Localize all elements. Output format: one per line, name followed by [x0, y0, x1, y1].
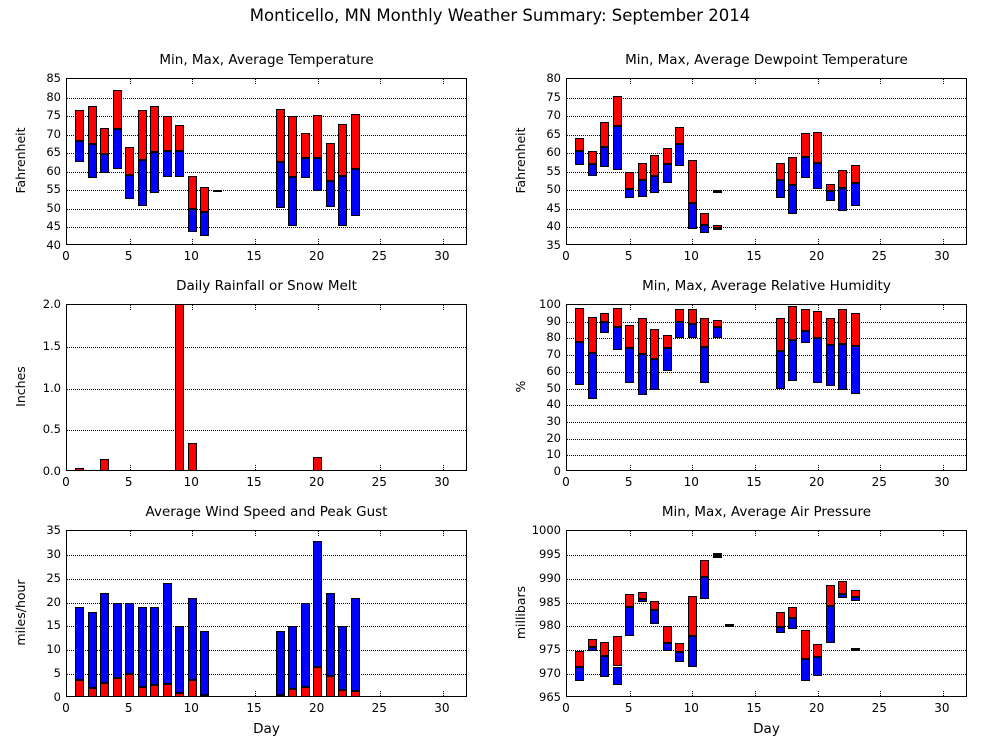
xtick-stub-bottom [818, 465, 819, 470]
bar-flat-marker [725, 624, 734, 627]
panel-temperature: Min, Max, Average Temperature40455055606… [6, 52, 469, 289]
xtick-stub-top [443, 79, 444, 84]
xtick-stub-bottom [943, 691, 944, 696]
xtick-stub-bottom [630, 239, 631, 244]
xtick-stub-top [943, 79, 944, 84]
xtick-stub-top [630, 305, 631, 310]
xtick-stub-bottom [818, 239, 819, 244]
bar-max-segment [788, 306, 797, 340]
xtick-stub-bottom [818, 691, 819, 696]
xtick-label: 20 [809, 249, 824, 263]
plot-area-rainfall [66, 304, 467, 471]
panel-title-temperature: Min, Max, Average Temperature [66, 52, 467, 68]
gridline-y [567, 227, 966, 228]
xtick-label: 25 [372, 701, 387, 715]
plot-area-temperature [66, 78, 467, 245]
gridline-y [567, 650, 966, 651]
xtick-stub-top [130, 531, 131, 536]
gridline-y [567, 116, 966, 117]
panel-title-rainfall: Daily Rainfall or Snow Melt [66, 278, 467, 294]
bar-min-segment [650, 176, 659, 193]
bar-min-segment [313, 158, 322, 191]
axis-label-y: Inches [13, 303, 28, 470]
bar-max-segment [138, 110, 147, 159]
bar-max-segment [163, 116, 172, 151]
bar-max-segment [813, 644, 822, 658]
bar-min-segment [688, 324, 697, 338]
xtick-stub-bottom [880, 691, 881, 696]
xtick-stub-bottom [380, 465, 381, 470]
xtick-stub-bottom [880, 465, 881, 470]
xtick-stub-top [755, 79, 756, 84]
bar-max-segment [675, 643, 684, 652]
bar-min-segment [600, 322, 609, 334]
xtick-label: 25 [872, 701, 887, 715]
xtick-label: 15 [746, 701, 761, 715]
xtick-label: 0 [62, 701, 70, 715]
xtick-stub-bottom [443, 239, 444, 244]
bar-max-segment [688, 309, 697, 324]
bar-max-segment [663, 148, 672, 163]
xtick-stub-top [192, 531, 193, 536]
xtick-stub-bottom [318, 239, 319, 244]
bar-max-segment [625, 325, 634, 348]
xtick-stub-top [630, 531, 631, 536]
gridline-y [67, 209, 466, 210]
xtick-label: 10 [184, 475, 199, 489]
bar-wind-average [113, 678, 122, 697]
bar-max-segment [813, 311, 822, 339]
bar-max-segment [575, 138, 584, 151]
bar-max-segment [588, 639, 597, 648]
bar-min-segment [638, 354, 647, 395]
bar-min-segment [650, 610, 659, 624]
xtick-stub-bottom [192, 239, 193, 244]
xtick-stub-top [255, 531, 256, 536]
xtick-stub-bottom [130, 239, 131, 244]
bar-max-segment [638, 592, 647, 599]
xtick-stub-top [443, 531, 444, 536]
bar-max-segment [700, 560, 709, 577]
bar-min-segment [813, 338, 822, 383]
xtick-label: 5 [625, 701, 633, 715]
bar-max-segment [600, 642, 609, 656]
bar-min-segment [625, 189, 634, 199]
xtick-label: 20 [309, 249, 324, 263]
xtick-stub-top [318, 79, 319, 84]
bar-max-segment [150, 106, 159, 152]
bar-max-segment [838, 309, 847, 344]
plot-area-pressure [566, 530, 967, 697]
xtick-stub-top [818, 305, 819, 310]
gridline-y [67, 389, 466, 390]
bar-min-segment [675, 652, 684, 662]
xtick-stub-bottom [630, 691, 631, 696]
bar-max-segment [588, 317, 597, 353]
xtick-stub-top [130, 79, 131, 84]
bar-rain [75, 468, 84, 471]
xtick-label: 30 [934, 249, 949, 263]
xtick-stub-bottom [880, 239, 881, 244]
bar-min-segment [600, 656, 609, 677]
bar-min-segment [276, 162, 285, 208]
bar-min-segment [150, 152, 159, 192]
bar-max-segment [675, 309, 684, 322]
xtick-stub-top [692, 531, 693, 536]
xtick-label: 30 [934, 701, 949, 715]
xtick-stub-top [130, 305, 131, 310]
xtick-stub-top [318, 305, 319, 310]
gridline-y [67, 579, 466, 580]
bar-gust [163, 583, 172, 684]
bar-max-segment [638, 163, 647, 180]
bar-max-segment [663, 626, 672, 643]
xtick-label: 0 [562, 701, 570, 715]
bar-min-segment [650, 359, 659, 390]
xtick-stub-bottom [255, 239, 256, 244]
bar-max-segment [575, 308, 584, 341]
bar-min-segment [776, 351, 785, 389]
bar-wind-average [125, 674, 134, 697]
bar-min-segment [788, 185, 797, 214]
bar-rain [188, 443, 197, 471]
bar-min-segment [200, 212, 209, 235]
axis-label-y: millibars [513, 529, 528, 696]
bar-max-segment [851, 313, 860, 346]
xtick-label: 20 [309, 475, 324, 489]
bar-max-segment [826, 184, 835, 191]
xtick-stub-bottom [692, 465, 693, 470]
xtick-label: 25 [372, 249, 387, 263]
bar-gust [301, 603, 310, 687]
xtick-stub-top [255, 79, 256, 84]
bar-min-segment [638, 180, 647, 197]
xtick-stub-bottom [380, 239, 381, 244]
bar-min-segment [713, 327, 722, 338]
xtick-stub-top [880, 531, 881, 536]
axis-label-y: Fahrenheit [13, 77, 28, 244]
bar-min-segment [125, 175, 134, 199]
bar-max-segment [776, 612, 785, 627]
bar-min-segment [638, 599, 647, 602]
bar-min-segment [700, 347, 709, 384]
xtick-label: 15 [246, 701, 261, 715]
gridline-y [67, 227, 466, 228]
xtick-label: 25 [872, 249, 887, 263]
bar-max-segment [276, 109, 285, 162]
bar-max-segment [788, 607, 797, 618]
bar-max-segment [650, 155, 659, 176]
bar-min-segment [663, 164, 672, 183]
bar-min-segment [213, 190, 222, 192]
xtick-stub-bottom [630, 465, 631, 470]
bar-max-segment [813, 132, 822, 163]
bar-wind-average [313, 667, 322, 697]
axis-label-y: % [513, 303, 528, 470]
bar-min-segment [326, 181, 335, 207]
bar-min-segment [175, 151, 184, 177]
xtick-stub-bottom [443, 465, 444, 470]
xtick-stub-top [192, 305, 193, 310]
xtick-label: 15 [746, 475, 761, 489]
bar-max-segment [638, 318, 647, 354]
bar-wind-average [200, 695, 209, 697]
gridline-y [67, 135, 466, 136]
bar-min-segment [575, 342, 584, 385]
xtick-stub-top [255, 305, 256, 310]
gridline-y [567, 322, 966, 323]
bar-min-segment [613, 327, 622, 350]
bar-min-segment [600, 147, 609, 167]
bar-min-segment [826, 345, 835, 386]
bar-rain [100, 459, 109, 471]
bar-max-segment [838, 170, 847, 188]
bar-min-segment [826, 191, 835, 201]
xtick-label: 15 [246, 475, 261, 489]
bar-min-segment [838, 594, 847, 598]
bar-min-segment [838, 344, 847, 390]
xtick-label: 25 [872, 475, 887, 489]
bar-min-segment [826, 606, 835, 643]
bar-min-segment [75, 141, 84, 162]
bar-max-segment [776, 318, 785, 351]
bar-max-segment [663, 335, 672, 348]
gridline-y [567, 555, 966, 556]
xtick-stub-bottom [755, 691, 756, 696]
axis-label-y: Fahrenheit [513, 77, 528, 244]
bar-gust [351, 598, 360, 691]
bar-max-segment [851, 165, 860, 183]
bar-max-segment [851, 590, 860, 597]
xtick-label: 0 [62, 249, 70, 263]
bar-min-segment [100, 154, 109, 173]
bar-max-segment [175, 125, 184, 151]
bar-max-segment [588, 151, 597, 164]
bar-min-segment [88, 144, 97, 179]
axis-label-x: Day [66, 721, 467, 737]
panel-title-humidity: Min, Max, Average Relative Humidity [566, 278, 967, 294]
bar-max-segment [75, 110, 84, 141]
xtick-label: 10 [684, 475, 699, 489]
bar-max-segment [113, 90, 122, 129]
bar-wind-average [150, 685, 159, 697]
bar-max-segment [188, 176, 197, 209]
bar-min-segment [301, 158, 310, 179]
bar-min-segment [713, 228, 722, 230]
xtick-label: 0 [62, 475, 70, 489]
xtick-stub-bottom [692, 239, 693, 244]
xtick-label: 5 [125, 249, 133, 263]
bar-max-segment [613, 96, 622, 126]
bar-max-segment [600, 122, 609, 148]
bar-min-segment [688, 203, 697, 230]
bar-min-segment [588, 647, 597, 650]
bar-min-segment [613, 126, 622, 170]
xtick-stub-top [755, 531, 756, 536]
bar-wind-average [163, 684, 172, 697]
gridline-y [567, 579, 966, 580]
bar-max-segment [575, 651, 584, 666]
bar-gust [100, 593, 109, 683]
bar-gust [326, 593, 335, 676]
bar-wind-average [326, 676, 335, 697]
bar-min-segment [801, 331, 810, 343]
bar-min-segment [851, 346, 860, 394]
bar-min-segment [788, 618, 797, 629]
bar-wind-average [138, 687, 147, 697]
bar-min-segment [688, 636, 697, 667]
xtick-stub-top [380, 79, 381, 84]
plot-area-wind [66, 530, 467, 697]
bar-min-segment [801, 659, 810, 680]
bar-wind-average [351, 691, 360, 697]
bar-max-segment [801, 630, 810, 660]
xtick-label: 10 [684, 249, 699, 263]
xtick-stub-top [943, 305, 944, 310]
bar-min-segment [776, 627, 785, 632]
gridline-y [567, 455, 966, 456]
bar-min-segment [788, 340, 797, 381]
xtick-label: 25 [372, 475, 387, 489]
bar-gust [175, 626, 184, 693]
xtick-stub-bottom [255, 691, 256, 696]
bar-max-segment [613, 636, 622, 666]
bar-gust [138, 607, 147, 687]
bar-max-segment [200, 187, 209, 212]
bar-min-segment [675, 144, 684, 166]
xtick-stub-bottom [943, 465, 944, 470]
bar-max-segment [688, 596, 697, 637]
gridline-y [67, 116, 466, 117]
gridline-y [567, 135, 966, 136]
axis-label-x: Day [566, 721, 967, 737]
bar-max-segment [826, 318, 835, 345]
bar-gust [113, 603, 122, 679]
bar-max-segment [801, 133, 810, 157]
plot-area-humidity [566, 304, 967, 471]
bar-max-segment [625, 172, 634, 189]
bar-min-segment [575, 151, 584, 165]
bar-wind-average [75, 680, 84, 697]
bar-flat-marker [713, 553, 722, 556]
xtick-stub-top [755, 305, 756, 310]
xtick-stub-top [880, 79, 881, 84]
xtick-stub-top [880, 305, 881, 310]
bar-wind-average [288, 689, 297, 697]
bar-max-segment [338, 124, 347, 176]
bar-max-segment [351, 114, 360, 169]
figure-title: Monticello, MN Monthly Weather Summary: … [0, 6, 1000, 25]
gridline-y [567, 98, 966, 99]
bar-gust [338, 626, 347, 689]
bar-max-segment [613, 308, 622, 326]
bar-min-segment [163, 151, 172, 176]
xtick-stub-bottom [443, 691, 444, 696]
bar-wind-average [338, 690, 347, 697]
bar-min-segment [700, 577, 709, 598]
gridline-y [567, 405, 966, 406]
xtick-label: 20 [809, 701, 824, 715]
panel-title-dewpoint: Min, Max, Average Dewpoint Temperature [566, 52, 967, 68]
xtick-label: 5 [125, 701, 133, 715]
bar-min-segment [801, 157, 810, 178]
xtick-label: 20 [809, 475, 824, 489]
xtick-label: 0 [562, 249, 570, 263]
panel-pressure: Min, Max, Average Air Pressure9659709759… [506, 504, 969, 741]
bar-max-segment [788, 157, 797, 185]
bar-gust [188, 598, 197, 680]
xtick-stub-top [692, 79, 693, 84]
bar-gust [288, 626, 297, 689]
xtick-stub-bottom [380, 691, 381, 696]
bar-min-segment [338, 176, 347, 226]
bar-wind-average [88, 688, 97, 697]
gridline-y [67, 347, 466, 348]
panel-rainfall: Daily Rainfall or Snow Melt0.00.51.01.52… [6, 278, 469, 515]
bar-max-segment [600, 313, 609, 321]
bar-max-segment [313, 115, 322, 157]
xtick-stub-bottom [692, 691, 693, 696]
bar-max-segment [88, 106, 97, 143]
gridline-y [567, 674, 966, 675]
bar-flat-marker [713, 190, 722, 193]
xtick-stub-top [443, 305, 444, 310]
gridline-y [67, 555, 466, 556]
xtick-label: 15 [746, 249, 761, 263]
bar-max-segment [801, 309, 810, 331]
bar-max-segment [700, 213, 709, 225]
bar-wind-average [175, 693, 184, 697]
xtick-stub-bottom [755, 465, 756, 470]
xtick-label: 10 [184, 701, 199, 715]
xtick-label: 30 [434, 249, 449, 263]
bar-gust [200, 631, 209, 694]
panel-humidity: Min, Max, Average Relative Humidity01020… [506, 278, 969, 515]
xtick-label: 30 [934, 475, 949, 489]
gridline-y [567, 153, 966, 154]
bar-max-segment [838, 581, 847, 594]
bar-rain [313, 457, 322, 471]
bar-max-segment [650, 329, 659, 359]
bar-max-segment [650, 601, 659, 610]
bar-min-segment [625, 348, 634, 383]
bar-min-segment [138, 160, 147, 207]
xtick-stub-top [630, 79, 631, 84]
bar-max-segment [100, 128, 109, 153]
bar-min-segment [288, 177, 297, 227]
xtick-stub-bottom [943, 239, 944, 244]
bar-gust [125, 603, 134, 675]
bar-min-segment [113, 129, 122, 168]
bar-min-segment [851, 183, 860, 205]
xtick-stub-bottom [130, 465, 131, 470]
gridline-y [567, 209, 966, 210]
xtick-stub-top [192, 79, 193, 84]
weather-summary-figure: Monticello, MN Monthly Weather Summary: … [0, 0, 1000, 750]
bar-gust [88, 612, 97, 688]
bar-min-segment [613, 667, 622, 686]
xtick-stub-top [818, 531, 819, 536]
bar-gust [313, 541, 322, 667]
xtick-stub-top [318, 531, 319, 536]
bar-max-segment [700, 318, 709, 346]
bar-min-segment [813, 163, 822, 189]
bar-wind-average [276, 695, 285, 697]
bar-max-segment [288, 116, 297, 176]
xtick-label: 5 [625, 475, 633, 489]
bar-max-segment [625, 594, 634, 607]
bar-min-segment [588, 353, 597, 399]
